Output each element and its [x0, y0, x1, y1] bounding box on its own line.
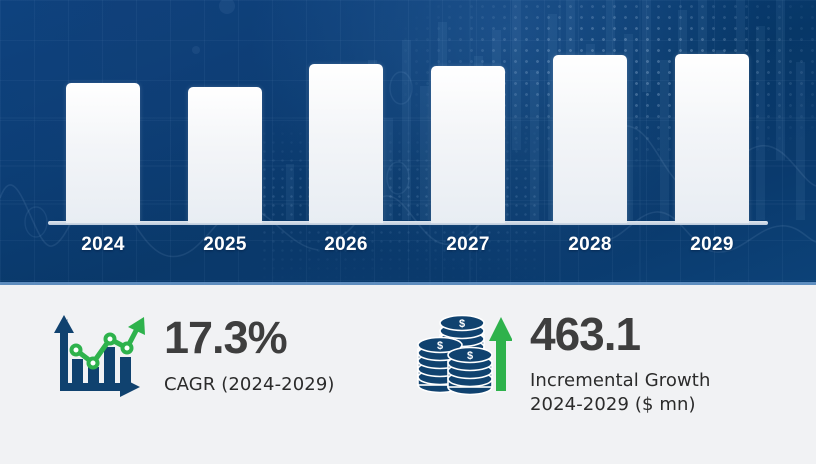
bar-2025 — [188, 87, 262, 223]
stats-panel: 17.3% CAGR (2024-2029) — [0, 285, 816, 464]
x-axis-label-2026: 2026 — [309, 234, 383, 256]
bar-chart-growth-arrow-icon — [48, 313, 146, 404]
stat-incremental-growth-label: Incremental Growth 2024-2029 ($ mn) — [530, 369, 710, 417]
svg-text:$: $ — [467, 350, 473, 362]
stat-incremental-growth-value: 463.1 — [530, 311, 710, 357]
stat-cagr-label: CAGR (2024-2029) — [164, 373, 335, 397]
bar-2029 — [675, 54, 749, 223]
x-axis-label-2024: 2024 — [66, 234, 140, 256]
x-axis-label-2027: 2027 — [431, 234, 505, 256]
chart-panel: 2024 2025 2026 2027 2028 2029 — [0, 0, 816, 285]
stat-cagr: 17.3% CAGR (2024-2029) — [48, 313, 335, 404]
bar-2027 — [431, 66, 505, 223]
x-axis-label-2029: 2029 — [675, 234, 749, 256]
bar-chart: 2024 2025 2026 2027 2028 2029 — [0, 0, 816, 285]
bar-2028 — [553, 55, 627, 223]
stat-cagr-value: 17.3% — [164, 315, 335, 360]
stat-incremental-growth-text: 463.1 Incremental Growth 2024-2029 ($ mn… — [530, 309, 710, 417]
svg-text:$: $ — [459, 318, 465, 330]
bar-2026 — [309, 64, 383, 223]
x-axis-label-2025: 2025 — [188, 234, 262, 256]
infographic-root: 2024 2025 2026 2027 2028 2029 — [0, 0, 816, 464]
stat-incremental-growth: $ $ $ 463.1 Incremental Growth 2024-2029… — [412, 309, 710, 417]
x-axis-label-2028: 2028 — [553, 234, 627, 256]
bar-2024 — [66, 83, 140, 223]
svg-text:$: $ — [437, 340, 443, 352]
stat-cagr-text: 17.3% CAGR (2024-2029) — [164, 313, 335, 397]
coin-stacks-up-arrow-icon: $ $ $ — [412, 309, 512, 404]
chart-baseline-axis — [48, 221, 768, 225]
